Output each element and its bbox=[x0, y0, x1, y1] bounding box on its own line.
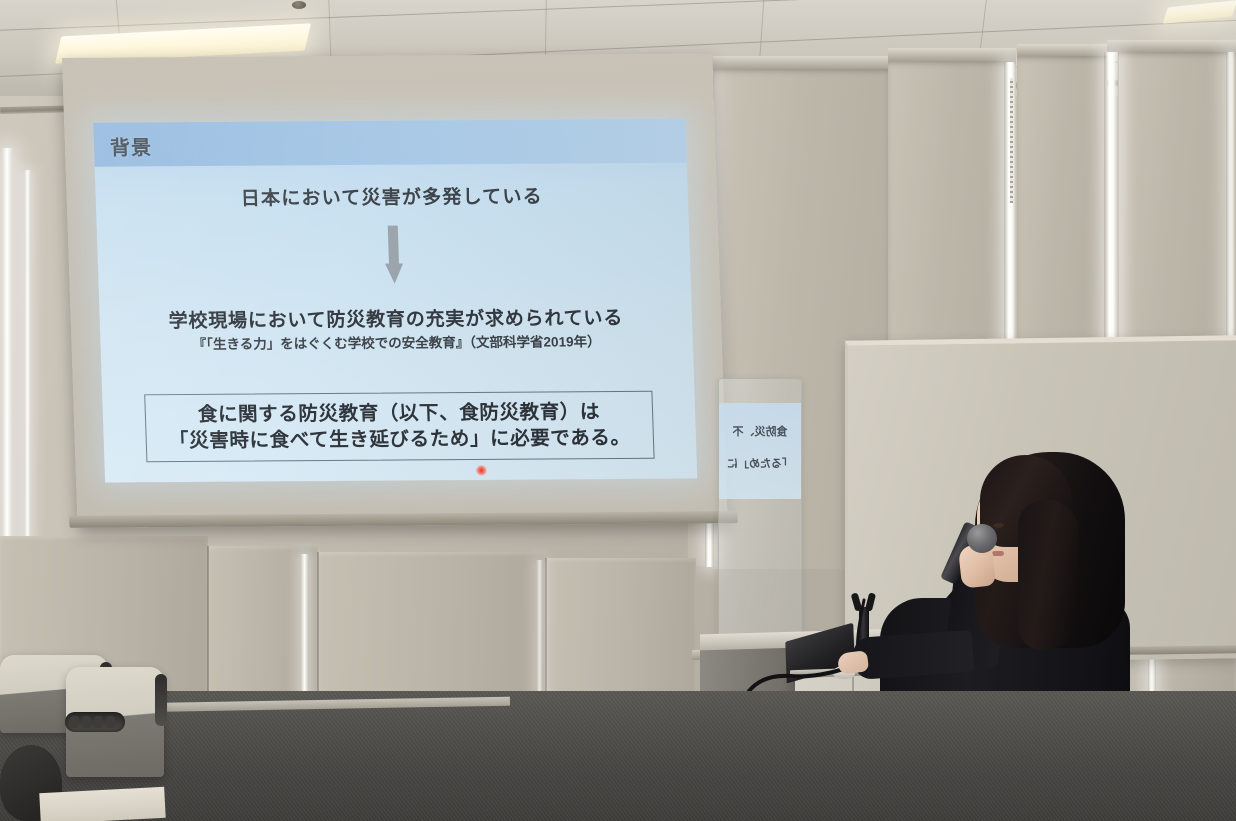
presentation-slide: 背景 日本において災害が多発している 学校現場において防災教育の充実が求められて… bbox=[93, 119, 697, 483]
slide-citation: 『「生きる力」をはぐくむ学校での安全教育』（文部科学省2019年） bbox=[100, 330, 693, 354]
presentation-room-scene: 背景 日本において災害が多発している 学校現場において防災教育の充実が求められて… bbox=[0, 0, 1236, 821]
window-blind-2[interactable] bbox=[888, 61, 1016, 351]
reflection-line-1: 食防災、不 bbox=[733, 423, 788, 439]
presenter-eye bbox=[993, 523, 1004, 528]
desk-surface-front bbox=[39, 787, 165, 821]
slide-title-band bbox=[93, 119, 687, 167]
projection-screen: 背景 日本において災害が多発している 学校現場において防災教育の充実が求められて… bbox=[62, 53, 729, 577]
seat-grip-panel[interactable] bbox=[65, 712, 125, 732]
blind-headrail-4 bbox=[1107, 40, 1236, 52]
window-blind-4[interactable] bbox=[1118, 52, 1236, 382]
microphone-head-icon bbox=[967, 524, 997, 553]
slide-statement-2: 学校現場において防災教育の充実が求められている bbox=[99, 303, 692, 334]
seat-handle-near[interactable] bbox=[155, 674, 167, 726]
slide-statement-1: 日本において災害が多発している bbox=[95, 181, 688, 212]
presenter-hand-on-mouse bbox=[837, 650, 869, 674]
presenter-lips bbox=[992, 551, 1004, 556]
conclusion-line-2: 「災害時に食べて生き延びるため」に必要である。 bbox=[169, 426, 631, 452]
slide-title: 背景 bbox=[109, 131, 152, 160]
blind-pull-chain[interactable] bbox=[1010, 78, 1013, 203]
conclusion-line-1: 食に関する防災教育（以下、食防災教育）は bbox=[198, 401, 601, 427]
blind-headrail-2 bbox=[888, 48, 1016, 61]
blind-light-gap-4 bbox=[1226, 52, 1236, 382]
slide-conclusion-box: 食に関する防災教育（以下、食防災教育）は 「災害時に食べて生き延びるため」に必要… bbox=[144, 391, 654, 463]
ceiling-vent-icon bbox=[292, 1, 306, 9]
slide-reflection: 食防災、不 「るため」に bbox=[719, 403, 801, 499]
blind-headrail-3 bbox=[1017, 44, 1107, 56]
acrylic-guard-panel: 食防災、不 「るため」に bbox=[718, 378, 802, 642]
blind-headrail-1 bbox=[713, 56, 888, 69]
blind-light-gap-3 bbox=[1104, 52, 1119, 382]
presenter-arm-extended bbox=[852, 630, 975, 680]
window-blind-3[interactable] bbox=[1017, 56, 1107, 356]
down-arrow-icon bbox=[384, 226, 404, 284]
microphone-clip-icon[interactable] bbox=[853, 593, 875, 613]
presenter-hair-side bbox=[1018, 500, 1078, 650]
reflection-line-2: 「るため」に bbox=[727, 455, 793, 471]
laser-pointer-dot bbox=[476, 465, 487, 476]
